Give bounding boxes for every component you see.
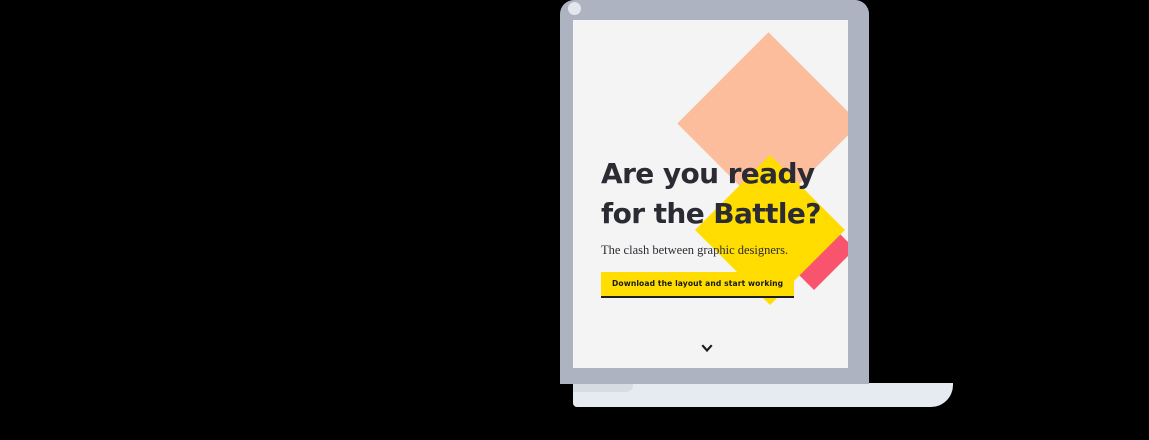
page-canvas: Are you ready for the Battle? The clash … bbox=[0, 0, 1149, 440]
chevron-down-icon bbox=[700, 342, 714, 354]
scroll-down-button[interactable] bbox=[700, 342, 714, 354]
webcam-icon bbox=[568, 2, 581, 15]
laptop-base-notch bbox=[573, 383, 633, 392]
laptop-screen: Are you ready for the Battle? The clash … bbox=[573, 20, 848, 368]
download-layout-button[interactable]: Download the layout and start working bbox=[601, 272, 794, 296]
cta-wrapper: Download the layout and start working bbox=[601, 272, 794, 296]
page-title: Are you ready for the Battle? bbox=[601, 154, 848, 234]
hero-subtitle: The clash between graphic designers. bbox=[601, 242, 848, 258]
hero-section: Are you ready for the Battle? The clash … bbox=[601, 154, 848, 296]
